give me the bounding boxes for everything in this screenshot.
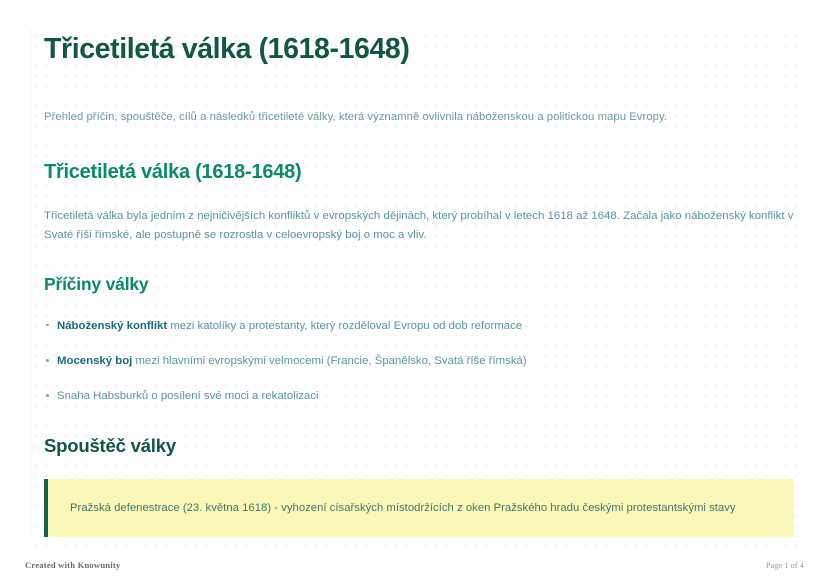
bullet-dot-icon: [46, 394, 49, 397]
footer-credit: Created with Knowunity: [25, 560, 120, 570]
left-margin-rule: [30, 28, 31, 538]
spacer: [44, 67, 794, 109]
list-item-emphasis: Mocenský boj: [57, 355, 132, 367]
bullet-dot-icon: [46, 324, 49, 327]
footer-page-number: Page 1 of 4: [766, 561, 804, 570]
spacer: [44, 406, 794, 434]
spacer: [44, 457, 794, 479]
spacer: [44, 185, 794, 207]
page-footer: Created with Knowunity Page 1 of 4: [0, 550, 828, 586]
list-item: Mocenský boj mezi hlavními evropskými ve…: [44, 352, 794, 370]
callout-text: Pražská defenestrace (23. května 1618) -…: [70, 499, 736, 517]
highlight-callout: Pražská defenestrace (23. května 1618) -…: [44, 479, 794, 537]
spacer: [44, 296, 794, 317]
section-heading-causes: Příčiny války: [44, 274, 794, 296]
document-content: Třicetiletá válka (1618-1648) Přehled př…: [44, 32, 794, 537]
document-page: Třicetiletá válka (1618-1648) Přehled př…: [0, 0, 828, 586]
list-item-text: mezi katolíky a protestanty, který rozdě…: [167, 320, 522, 332]
document-subtitle: Přehled příčin, spouštěče, cílů a násled…: [44, 109, 794, 126]
page-title: Třicetiletá válka (1618-1648): [44, 32, 794, 67]
list-item-text: mezi hlavními evropskými velmocemi (Fran…: [132, 355, 526, 367]
list-item-text: Snaha Habsburků o posílení své moci a re…: [57, 390, 319, 402]
bullet-dot-icon: [46, 359, 49, 362]
list-item: Náboženský konflikt mezi katolíky a prot…: [44, 317, 794, 335]
section-heading-overview: Třicetiletá válka (1618-1648): [44, 160, 794, 185]
spacer: [44, 246, 794, 274]
list-item-emphasis: Náboženský konflikt: [57, 320, 167, 332]
section-paragraph-overview: Třicetiletá válka byla jedním z nejničiv…: [44, 207, 794, 246]
section-heading-trigger: Spouštěč války: [44, 434, 794, 457]
causes-list: Náboženský konflikt mezi katolíky a prot…: [44, 317, 794, 406]
list-item: Snaha Habsburků o posílení své moci a re…: [44, 387, 794, 405]
spacer: [44, 126, 794, 160]
